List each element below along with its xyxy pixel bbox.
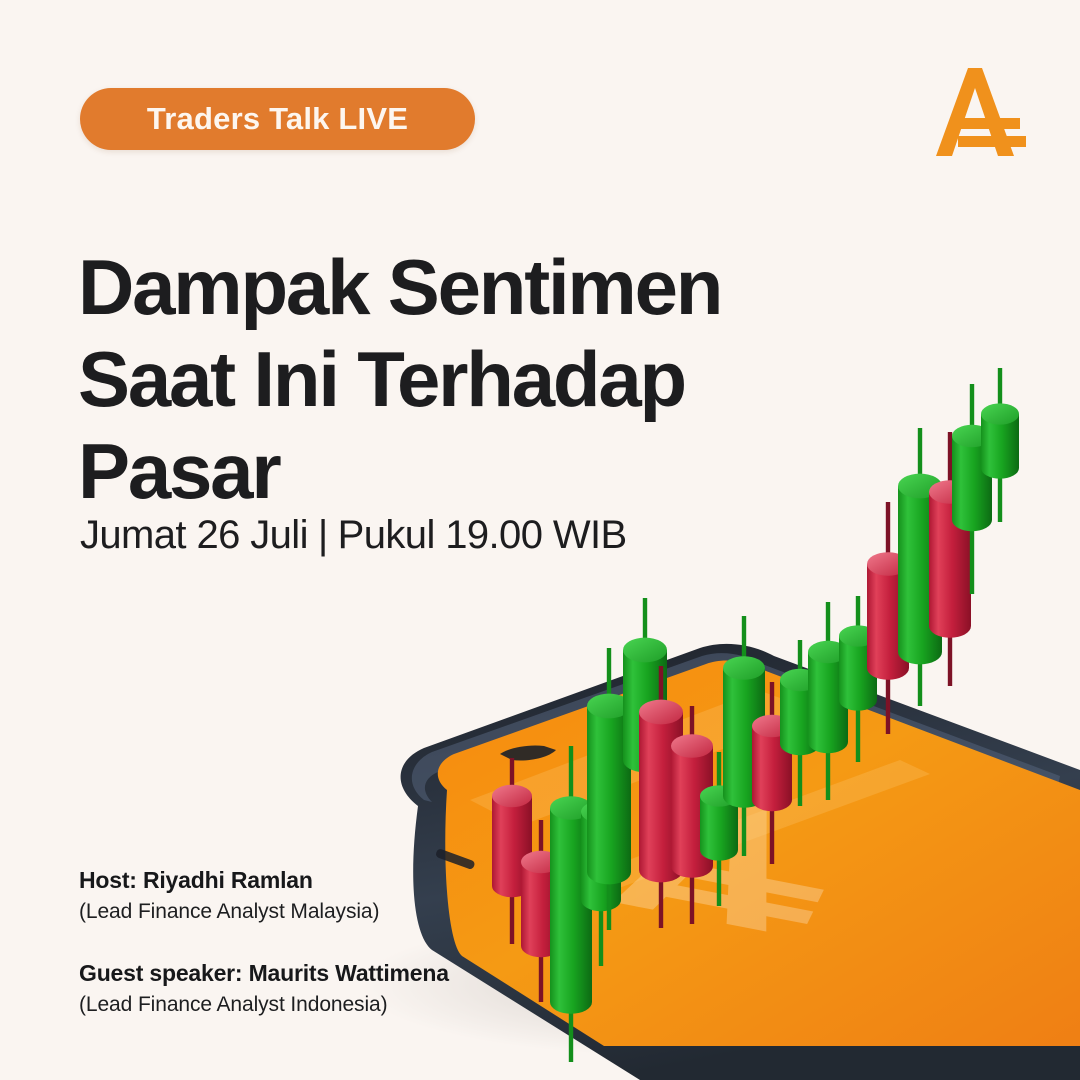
host-name: Host: Riyadhi Ramlan — [79, 866, 549, 895]
guest-role: (Lead Finance Analyst Indonesia) — [79, 991, 549, 1018]
candle-cap — [639, 700, 683, 725]
credits-block: Host: Riyadhi Ramlan (Lead Finance Analy… — [79, 866, 549, 1018]
page-title: Dampak Sentimen Saat Ini Terhadap Pasar — [78, 248, 798, 524]
candle-cap — [671, 734, 713, 758]
credits-spacer — [79, 925, 549, 959]
event-time: Pukul 19.00 WIB — [338, 513, 627, 557]
live-badge[interactable]: Traders Talk LIVE — [80, 88, 475, 150]
title-line-1: Dampak Sentimen — [78, 248, 798, 326]
brand-a-logo-icon — [930, 62, 1030, 162]
candle-cap — [723, 656, 765, 680]
guest-name: Guest speaker: Maurits Wattimena — [79, 959, 549, 988]
poster-canvas: Traders Talk LIVE Dampak Sentimen Saat I… — [0, 0, 1080, 1080]
title-line-2: Saat Ini Terhadap — [78, 340, 798, 418]
candle-cap — [492, 785, 532, 807]
event-date: Jumat 26 Juli — [80, 513, 308, 557]
candle-cap — [623, 638, 667, 663]
live-badge-label: Traders Talk LIVE — [147, 101, 408, 137]
event-datetime: Jumat 26 Juli|Pukul 19.00 WIB — [80, 513, 627, 558]
title-line-3: Pasar — [78, 432, 798, 510]
datetime-separator: | — [318, 513, 328, 558]
host-role: (Lead Finance Analyst Malaysia) — [79, 898, 549, 925]
candle-cap — [981, 403, 1019, 424]
